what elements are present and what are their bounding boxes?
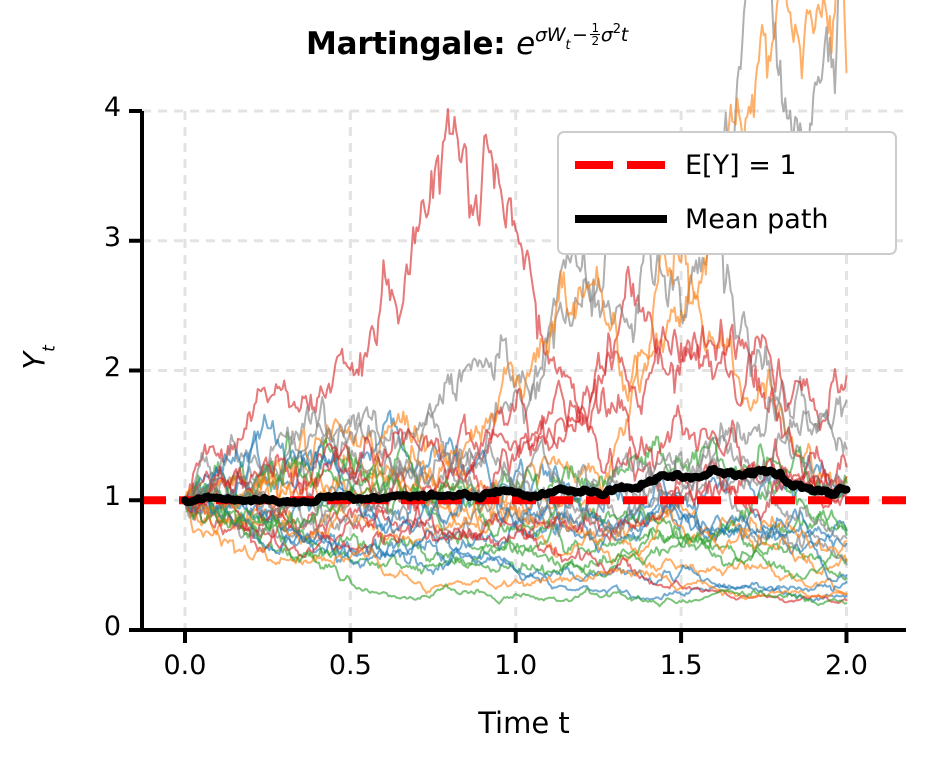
- legend-item-expectation: E[Y] = 1: [559, 139, 895, 191]
- y-tick-label: 0: [61, 611, 121, 642]
- legend-label-expectation: E[Y] = 1: [685, 150, 797, 181]
- x-tick-label: 1.5: [626, 650, 736, 681]
- y-tick-label: 2: [61, 352, 121, 383]
- x-tick-label: 2.0: [791, 650, 901, 681]
- legend-item-mean-path: Mean path: [559, 193, 895, 245]
- x-tick-label: 0.5: [295, 650, 405, 681]
- legend-swatch-dashed-red: [575, 150, 667, 180]
- y-axis-label-sub: t: [39, 345, 59, 352]
- y-axis-label: Yt: [18, 302, 57, 412]
- chart-legend: E[Y] = 1 Mean path: [557, 131, 897, 255]
- chart-figure: Martingale: eσWt − 12σ2t 01234 0.00.51.0…: [0, 0, 934, 784]
- y-tick-label: 1: [61, 481, 121, 512]
- legend-label-mean-path: Mean path: [685, 204, 829, 235]
- x-tick-label: 1.0: [461, 650, 571, 681]
- y-tick-label: 4: [61, 92, 121, 123]
- y-tick-label: 3: [61, 222, 121, 253]
- y-axis-label-base: Y: [18, 352, 52, 370]
- x-tick-label: 0.0: [130, 650, 240, 681]
- legend-swatch-solid-black: [575, 204, 667, 234]
- x-axis-label: Time t: [142, 706, 906, 740]
